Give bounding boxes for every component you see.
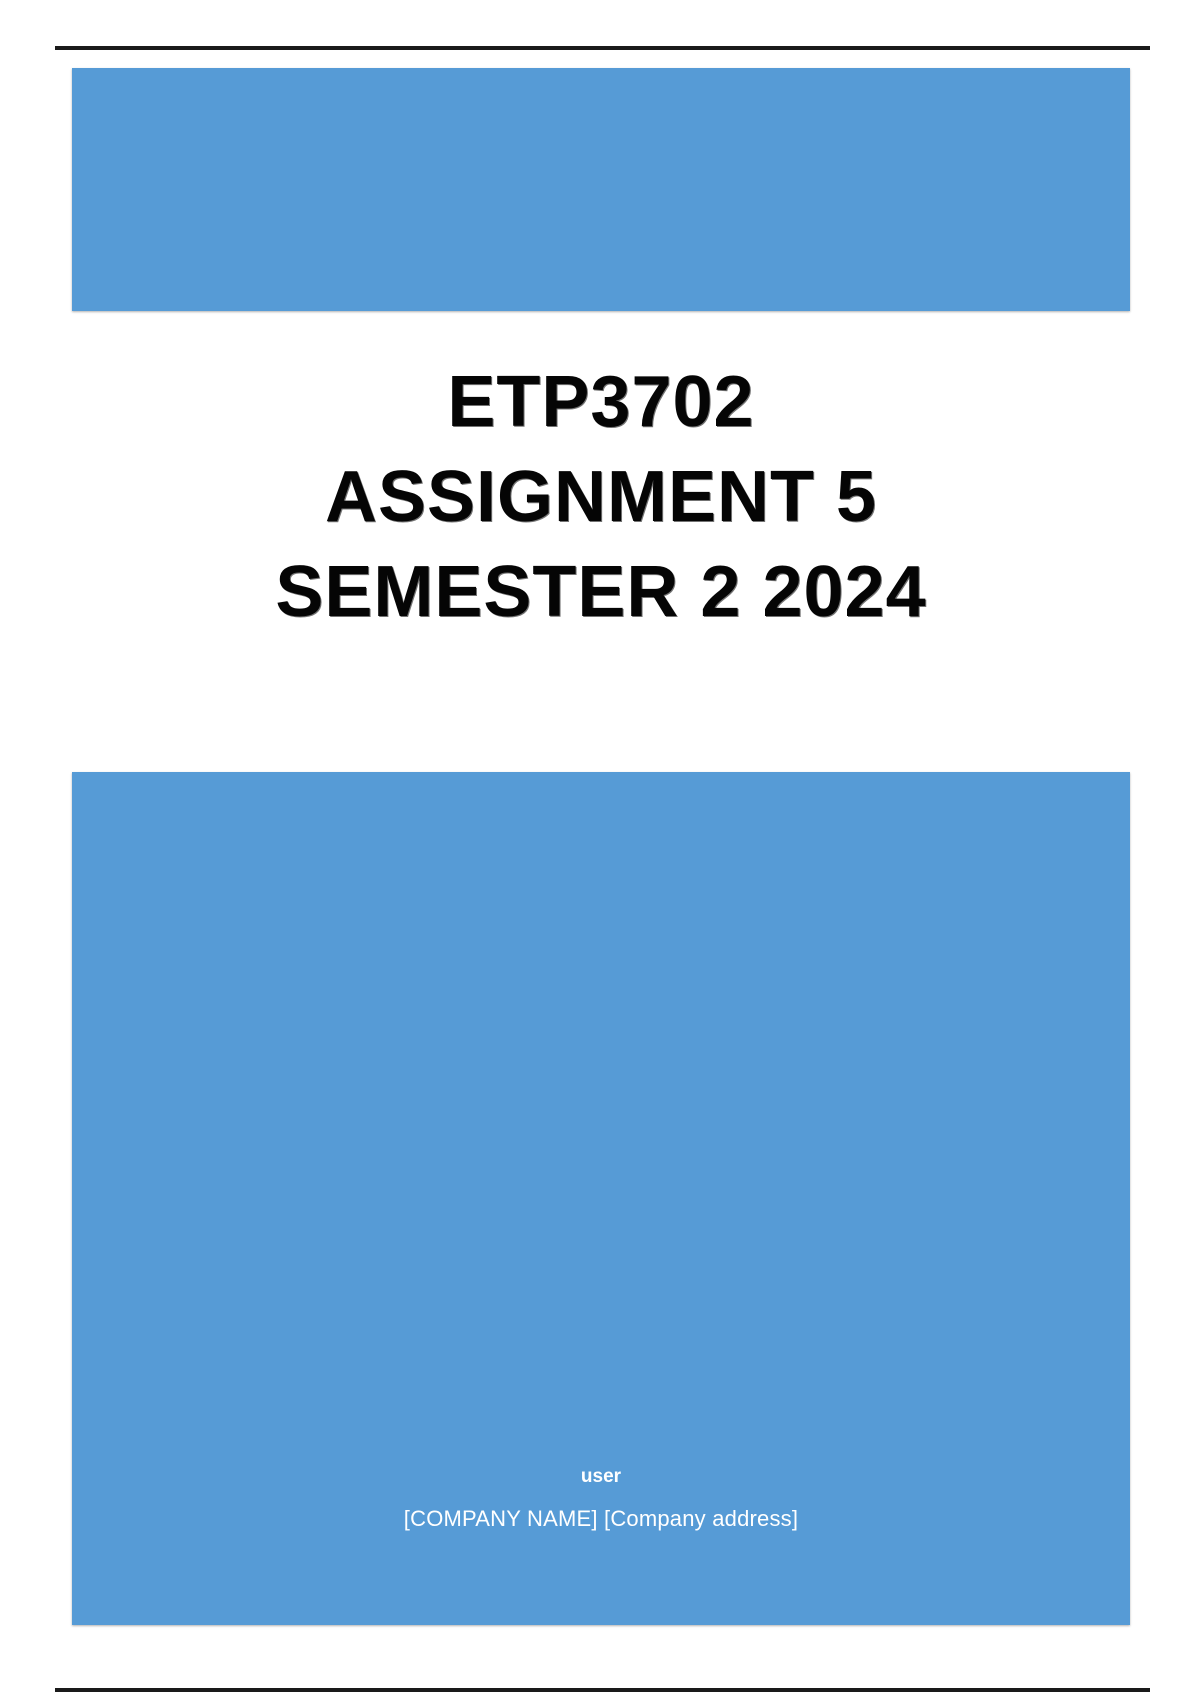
title-line-course-code: ETP3702 (72, 355, 1130, 450)
cover-page: ETP3702 ASSIGNMENT 5 SEMESTER 2 2024 use… (0, 0, 1200, 1700)
title-line-assignment: ASSIGNMENT 5 (72, 450, 1130, 545)
bottom-horizontal-rule (55, 1688, 1150, 1692)
cover-author-name: user (72, 1465, 1130, 1489)
cover-title-block: ETP3702 ASSIGNMENT 5 SEMESTER 2 2024 (72, 355, 1130, 640)
bottom-accent-band (72, 772, 1130, 1625)
top-horizontal-rule (55, 46, 1150, 50)
top-accent-band (72, 68, 1130, 311)
cover-company-line: [COMPANY NAME] [Company address] (72, 1505, 1130, 1533)
title-line-semester: SEMESTER 2 2024 (72, 545, 1130, 640)
